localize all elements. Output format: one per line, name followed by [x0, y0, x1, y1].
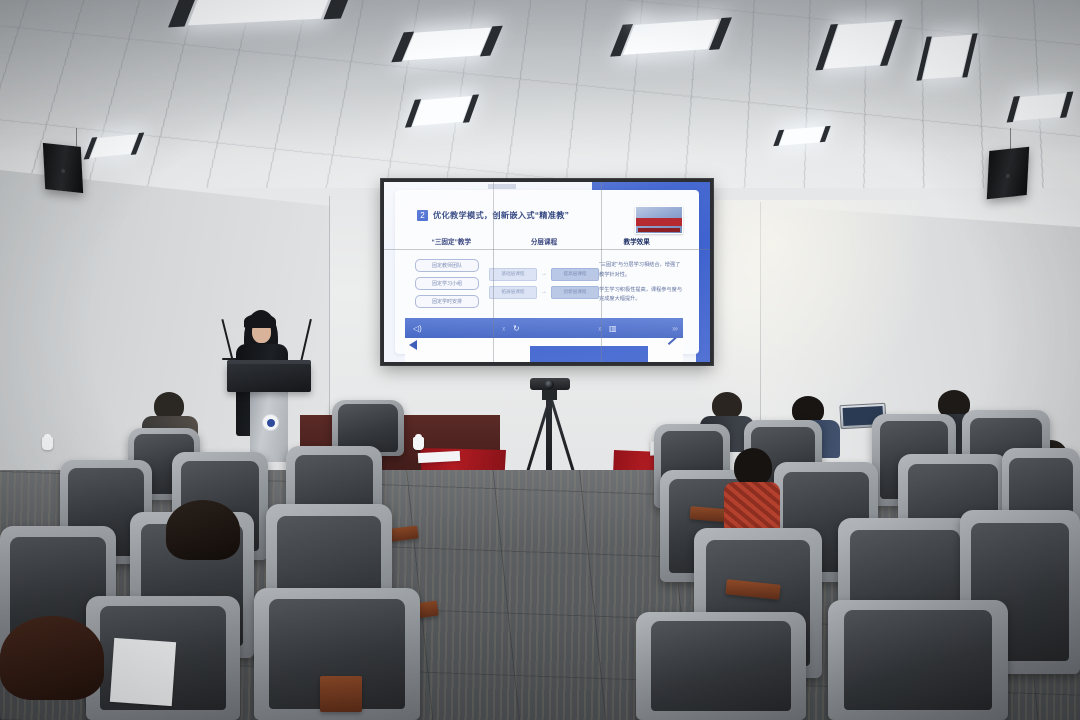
slide-card: 2 优化教学模式，创新嵌入式“精准教” “三固定”教学 分层课程 教学效果 固定…	[395, 190, 699, 354]
middle-row-2: 拓展层课程 → 创新层课程	[489, 286, 599, 299]
panel-seam-h1	[384, 249, 710, 250]
effect-paragraph-1: “三固定”与分层学习相结合，增强了教学针对性。	[599, 261, 683, 280]
ceiling-light-6	[90, 134, 137, 158]
banner-segment-1: ◁) ›››	[405, 318, 513, 338]
banner-segment-3: ▥ ›››	[601, 318, 683, 338]
middle-row-1-to: 提高层课程	[551, 268, 599, 281]
slide-section-number: 2	[417, 210, 428, 221]
slide-title: 优化教学模式，创新嵌入式“精准教”	[433, 209, 569, 221]
back-arrow-icon	[409, 340, 417, 350]
slide-column-middle: 基础层课程 → 提高层课程 拓展层课程 → 创新层课程	[489, 254, 599, 312]
middle-row-1: 基础层课程 → 提高层课程	[489, 268, 599, 281]
slide-corner-photo	[635, 206, 683, 234]
tripod-head	[542, 390, 557, 400]
volume-icon: ◁)	[413, 324, 422, 333]
middle-row-2-to: 创新层课程	[551, 286, 599, 299]
middle-row-1-from: 基础层课程	[489, 268, 537, 281]
handout-paper	[110, 638, 176, 706]
panel-seam-v2	[601, 182, 602, 362]
audience-member-front-left	[0, 616, 112, 720]
chevrons-3: ›››	[672, 324, 677, 333]
slide-bottom-blue-band	[530, 346, 648, 362]
teacup-left-table	[413, 437, 424, 450]
seat[interactable]	[636, 612, 806, 720]
arrow-icon-1: →	[541, 271, 547, 277]
panel-seam-v1	[493, 182, 494, 362]
video-wall-screen: 2 优化教学模式，创新嵌入式“精准教” “三固定”教学 分层课程 教学效果 固定…	[384, 182, 710, 362]
ceiling-light-8	[824, 21, 894, 69]
slide-columns: 固定教师团队 固定学习小组 固定学时安排 基础层课程 → 提高层课程 拓	[405, 254, 683, 312]
slide-column-right: “三固定”与分层学习相结合，增强了教学针对性。 学生学习积极性提高，课程参与度与…	[599, 254, 683, 312]
scene-root: 2 优化教学模式，创新嵌入式“精准教” “三固定”教学 分层课程 教学效果 固定…	[0, 0, 1080, 720]
presentation-slide: 2 优化教学模式，创新嵌入式“精准教” “三固定”教学 分层课程 教学效果 固定…	[384, 182, 710, 362]
ceiling-speaker-right	[987, 147, 1029, 200]
ceiling-light-9	[1014, 93, 1066, 121]
middle-row-2-from: 拓展层课程	[489, 286, 537, 299]
teacup-far-left	[42, 437, 53, 450]
right-speaker-wire	[1010, 128, 1011, 150]
ceiling-light-4	[413, 96, 472, 126]
effect-paragraph-2: 学生学习积极性提高，课程参与度与完成度大幅提升。	[599, 286, 683, 305]
left-item-2: 固定学习小组	[415, 277, 479, 290]
camera-lens-icon	[545, 380, 554, 389]
podium-emblem-icon	[262, 414, 279, 431]
seat[interactable]	[828, 600, 1008, 720]
banner-segment-2: ↻ ›››	[505, 318, 609, 338]
slide-banner: ◁) ››› ↻ ››› ▥ ›››	[405, 318, 683, 338]
refresh-icon: ↻	[513, 324, 520, 333]
left-item-3: 固定学时安排	[415, 295, 479, 308]
presenter-hair-front	[244, 314, 276, 328]
video-wall-display[interactable]: 2 优化教学模式，创新嵌入式“精准教” “三固定”教学 分层课程 教学效果 固定…	[381, 179, 713, 365]
arrow-icon-2: →	[541, 289, 547, 295]
audience-member-seated-mid	[166, 500, 240, 562]
ceiling-speaker-left	[43, 143, 83, 193]
chart-icon: ▥	[609, 324, 617, 333]
left-item-1: 固定教师团队	[415, 259, 479, 272]
ceiling-light-5	[923, 35, 972, 80]
slide-column-left: 固定教师团队 固定学习小组 固定学时安排	[405, 254, 489, 312]
left-speaker-wire	[76, 128, 77, 146]
podium-desk	[227, 364, 311, 392]
tablet-arm[interactable]	[320, 676, 362, 712]
